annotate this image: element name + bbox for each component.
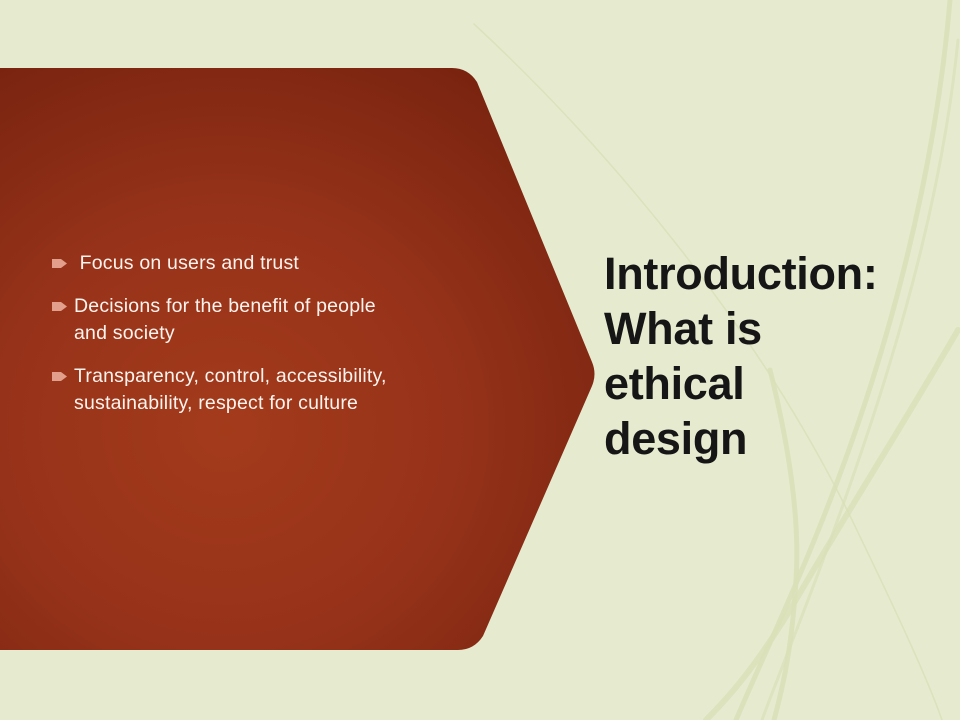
pennant-arrow-bullet-icon xyxy=(52,372,67,381)
list-item-label: Focus on users and trust xyxy=(74,252,299,274)
page-title-line: design xyxy=(604,411,934,466)
page-title-line: Introduction: xyxy=(604,246,934,301)
pennant-arrow-bullet-icon xyxy=(52,259,67,268)
list-item: Transparency, control, accessibility, su… xyxy=(52,363,412,417)
page-title-line: What is xyxy=(604,301,934,356)
presentation-slide: Focus on users and trust Decisions for t… xyxy=(0,0,960,720)
bullet-list: Focus on users and trust Decisions for t… xyxy=(52,250,412,433)
page-title-line: ethical xyxy=(604,356,934,411)
page-title: Introduction: What is ethical design xyxy=(604,246,934,466)
list-item: Decisions for the benefit of people and … xyxy=(52,293,412,347)
list-item-label: Decisions for the benefit of people and … xyxy=(74,295,381,344)
list-item-label: Transparency, control, accessibility, su… xyxy=(74,365,392,414)
pennant-arrow-bullet-icon xyxy=(52,302,67,311)
list-item: Focus on users and trust xyxy=(52,250,412,277)
